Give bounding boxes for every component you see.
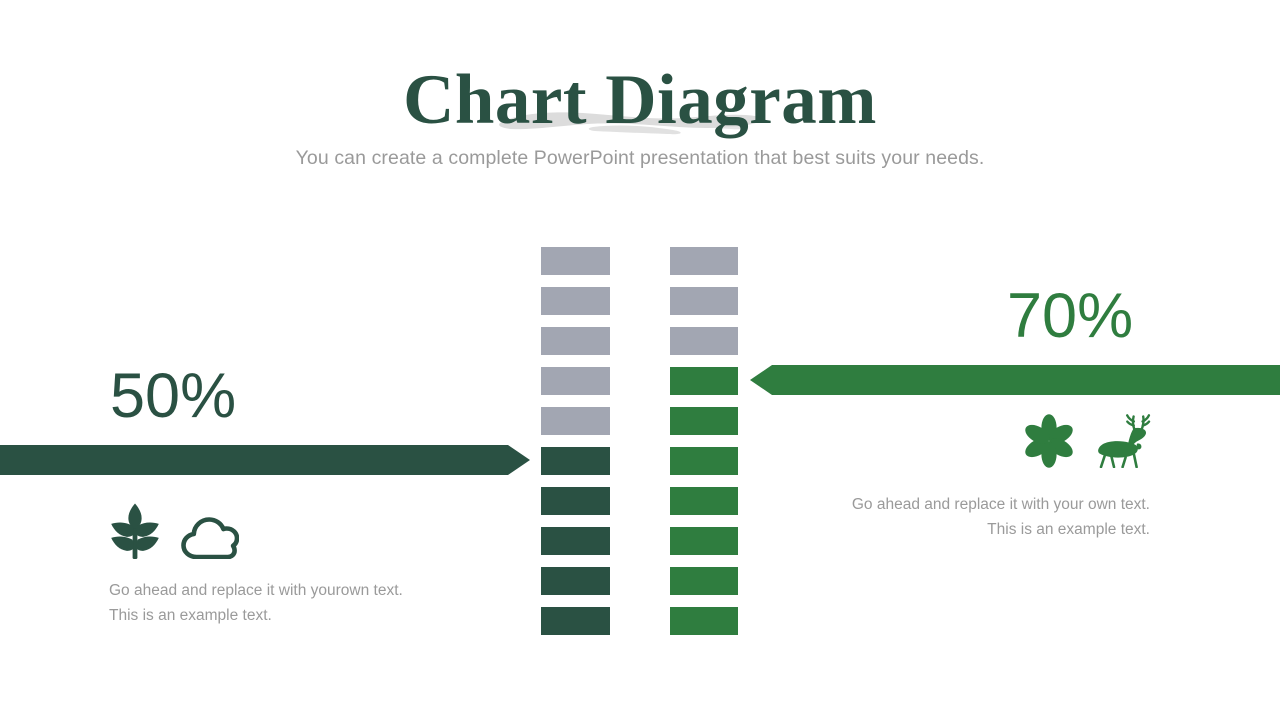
description-right: Go ahead and replace it with your own te… — [770, 492, 1150, 542]
bar-segment-empty — [670, 247, 738, 275]
bar-column-right — [670, 247, 738, 635]
bar-segment-empty — [541, 287, 610, 315]
deer-icon — [1095, 412, 1153, 468]
arrow-right-pointing-left — [750, 365, 1280, 395]
bar-segment-empty — [541, 407, 610, 435]
flower-icon — [1021, 414, 1077, 468]
percent-label-right: 70% — [1007, 285, 1133, 348]
percent-label-left: 50% — [110, 365, 236, 428]
bar-segment-empty — [670, 287, 738, 315]
bar-segment-filled — [670, 567, 738, 595]
icon-row-right — [1021, 412, 1153, 468]
bar-segment-filled — [670, 607, 738, 635]
page-title-container: Chart Diagram — [0, 58, 1280, 142]
bar-segment-filled — [670, 447, 738, 475]
description-left-line-2: This is an example text. — [109, 603, 529, 628]
bar-segment-filled — [670, 367, 738, 395]
plant-leaf-icon — [108, 503, 162, 559]
description-right-line-2: This is an example text. — [770, 517, 1150, 542]
bar-segment-empty — [541, 247, 610, 275]
bar-segment-filled — [541, 607, 610, 635]
bar-segment-filled — [541, 527, 610, 555]
arrow-left-pointing-right — [0, 445, 530, 475]
bar-segment-empty — [541, 327, 610, 355]
bar-segment-filled — [670, 527, 738, 555]
cloud-icon — [181, 517, 239, 559]
bar-segment-empty — [541, 367, 610, 395]
bar-segment-filled — [541, 487, 610, 515]
bar-segment-filled — [670, 407, 738, 435]
bar-segment-filled — [541, 447, 610, 475]
description-left: Go ahead and replace it with yourown tex… — [109, 578, 529, 628]
page-subtitle: You can create a complete PowerPoint pre… — [0, 147, 1280, 170]
bar-segment-empty — [670, 327, 738, 355]
slide-canvas: Chart Diagram You can create a complete … — [0, 0, 1280, 720]
page-title: Chart Diagram — [403, 58, 877, 142]
description-left-line-1: Go ahead and replace it with yourown tex… — [109, 578, 529, 603]
bar-segment-filled — [541, 567, 610, 595]
description-right-line-1: Go ahead and replace it with your own te… — [770, 492, 1150, 517]
bar-segment-filled — [670, 487, 738, 515]
bar-column-left — [541, 247, 610, 635]
icon-row-left — [108, 503, 239, 559]
